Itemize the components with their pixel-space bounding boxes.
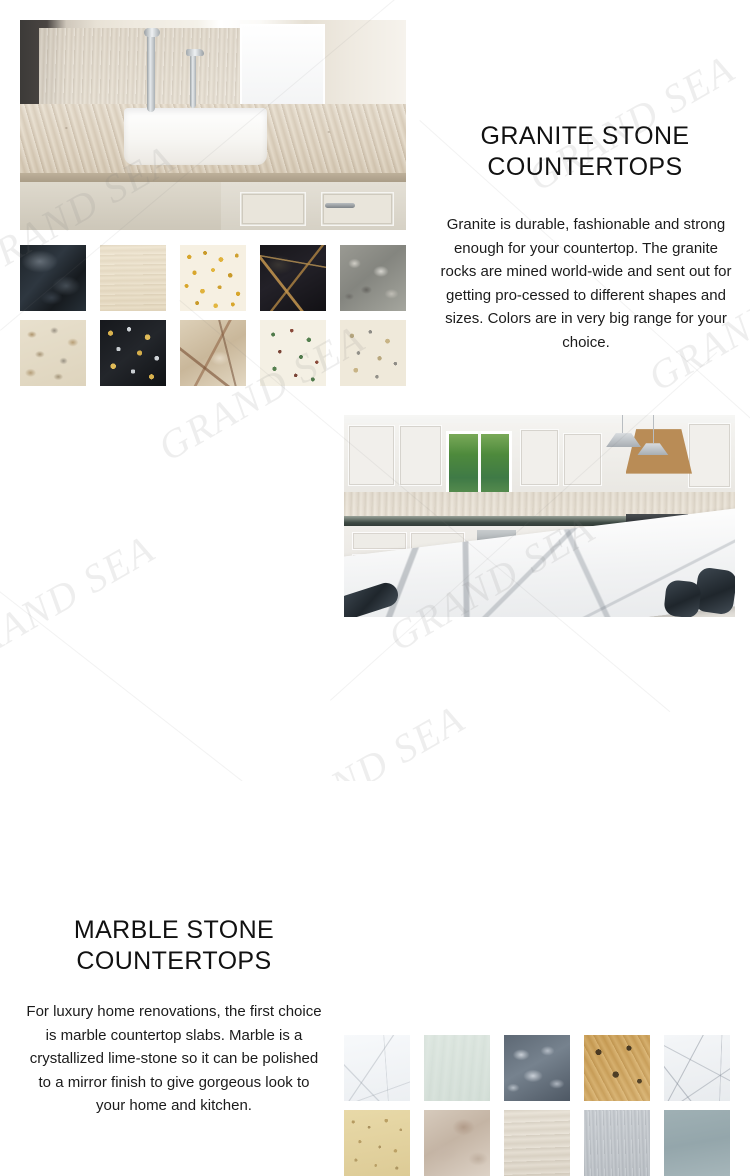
faucet-spout	[144, 28, 160, 37]
swatch-cream-gold-speckle-granite[interactable]	[180, 245, 246, 311]
swatch-gray-terrazzo-granite[interactable]	[340, 245, 406, 311]
window-mullion	[478, 431, 481, 498]
pendant-cord	[622, 415, 624, 433]
swatch-black-gold-vein-marble[interactable]	[260, 245, 326, 311]
swatch-white-green-fleck-quartz[interactable]	[260, 320, 326, 386]
marble-title-line-1: MARBLE STONE	[74, 916, 274, 944]
undermount-sink	[124, 108, 267, 165]
swatch-blue-gray-solid-marble[interactable]	[664, 1110, 730, 1176]
marble-swatch-grid	[344, 1035, 730, 1176]
upper-cabinet-door	[399, 425, 442, 486]
swatch-white-gray-vein-marble[interactable]	[664, 1035, 730, 1101]
swatch-beige-speckled-granite[interactable]	[20, 320, 86, 386]
granite-title-line-1: GRANITE STONE	[481, 122, 690, 150]
marble-description: For luxury home renovations, the first c…	[22, 1000, 326, 1118]
granite-swatch-grid	[20, 245, 406, 386]
bar-stool	[663, 579, 702, 617]
swatch-brown-vein-granite[interactable]	[180, 320, 246, 386]
lower-cabinets-left	[20, 182, 221, 230]
marble-hero-image	[344, 415, 735, 617]
marble-section: MARBLE STONE COUNTERTOPS For luxury home…	[0, 400, 750, 781]
swatch-cream-banded-marble[interactable]	[504, 1110, 570, 1176]
upper-cabinet-door	[563, 433, 602, 486]
secondary-faucet-icon	[190, 54, 196, 109]
cabinet-panel	[240, 192, 306, 226]
upper-cabinet-door	[348, 425, 395, 486]
secondary-faucet-spout	[186, 49, 204, 56]
cabinet-panel	[321, 192, 394, 226]
swatch-taupe-clouded-marble[interactable]	[424, 1110, 490, 1176]
granite-hero-image	[20, 20, 406, 230]
cabinet-handle	[325, 203, 355, 208]
faucet-icon	[147, 33, 155, 113]
granite-section: GRANITE STONE COUNTERTOPS Granite is dur…	[0, 0, 750, 400]
drawer-front	[352, 532, 407, 550]
marble-title-line-2: COUNTERTOPS	[76, 947, 271, 975]
swatch-dark-blue-black-granite[interactable]	[20, 245, 86, 311]
granite-title-line-2: COUNTERTOPS	[487, 153, 682, 181]
swatch-cream-travertine[interactable]	[100, 245, 166, 311]
marble-section-title: MARBLE STONE COUNTERTOPS	[14, 915, 334, 977]
pendant-cord	[653, 415, 655, 443]
upper-cabinet-door	[520, 429, 559, 486]
granite-section-title: GRANITE STONE COUNTERTOPS	[430, 121, 740, 183]
swatch-cream-multicolor-speckle-quartz[interactable]	[340, 320, 406, 386]
swatch-white-veined-marble[interactable]	[344, 1035, 410, 1101]
swatch-dark-gray-marble[interactable]	[504, 1035, 570, 1101]
upper-cabinet-door	[688, 423, 731, 488]
granite-description: Granite is durable, fashionable and stro…	[437, 213, 735, 354]
swatch-pale-green-gray-marble[interactable]	[424, 1035, 490, 1101]
swatch-gray-white-speckle-marble[interactable]	[584, 1110, 650, 1176]
window	[240, 24, 325, 108]
swatch-black-gold-fleck-granite[interactable]	[100, 320, 166, 386]
swatch-beige-sandstone-marble[interactable]	[344, 1110, 410, 1176]
swatch-golden-brown-marble[interactable]	[584, 1035, 650, 1101]
